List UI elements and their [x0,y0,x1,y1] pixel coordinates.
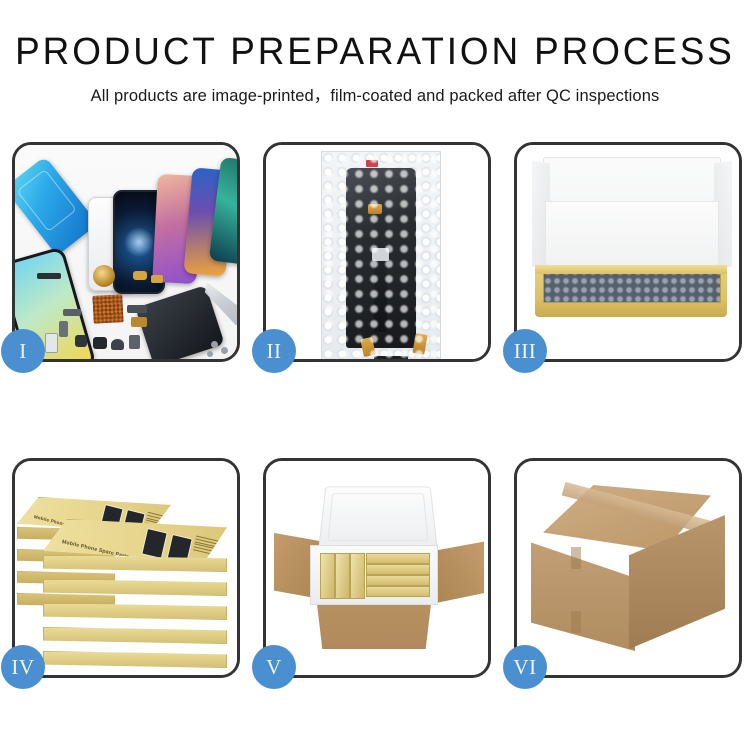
infographic-page: PRODUCT PREPARATION PROCESS All products… [0,0,750,750]
box-front-5 [43,651,227,668]
step-image-5 [266,461,488,675]
component-bracket [63,309,81,316]
screw-1 [211,341,218,348]
foam-sheet [545,201,719,273]
yellow-box-v-3 [350,553,365,599]
bubble-wrap-bag [321,151,441,359]
step-image-1 [15,145,237,359]
step-card-3[interactable]: III [514,142,742,362]
yellow-box-v-1 [320,553,335,599]
step-badge-6: VI [503,645,547,689]
step-badge-1: I [1,329,45,373]
box-spec-lines-front [192,536,219,558]
foam-lid [318,486,438,549]
component-chip [93,337,107,349]
step-image-6 [517,461,739,675]
component-button [111,339,124,350]
step-card-5[interactable]: V [263,458,491,678]
carton-seam-bottom [571,611,581,633]
step-badge-4: IV [1,645,45,689]
screw-2 [221,347,228,354]
page-subtitle: All products are image-printed，film-coat… [0,82,750,106]
step-badge-5: V [252,645,296,689]
screw-3 [207,351,213,357]
step-badge-3: III [503,329,547,373]
component-ribbon [127,305,147,313]
component-camera-module [75,335,87,347]
carton-seam-top [571,547,581,569]
box-front-3 [43,603,227,620]
component-flex-cable-1 [133,271,147,280]
step-badge-2: II [252,329,296,373]
header: PRODUCT PREPARATION PROCESS All products… [0,0,750,106]
yellow-box-v-2 [335,553,350,599]
step-image-2 [266,145,488,359]
step-card-2[interactable]: II [263,142,491,362]
component-vibrator [129,335,140,349]
component-sim-tray [45,333,58,353]
bubble-texture-overlay [322,152,440,359]
copper-coil [93,265,115,287]
component-speaker [37,273,61,279]
oca-film [15,156,98,256]
component-flex-cable-2 [151,275,163,283]
step-card-1[interactable]: I [12,142,240,362]
page-title: PRODUCT PREPARATION PROCESS [11,30,739,74]
step-image-3 [517,145,739,359]
carton-left-face [531,533,635,651]
component-gold-contact [131,317,147,327]
box-front-4 [43,627,227,644]
tray-rim [535,265,727,274]
copper-mesh [92,294,123,324]
box-front-2 [43,579,227,596]
box-phone-image-front-1 [141,528,168,559]
step-card-6[interactable]: VI [514,458,742,678]
step-card-4[interactable]: Mobile Phone Spare Parts Mobile Phone Sp… [12,458,240,678]
yellow-box-h-3 [366,575,430,586]
yellow-box-h-4 [366,586,430,597]
process-step-grid: I II [12,142,740,678]
yellow-box-h-1 [366,553,430,564]
step-image-4: Mobile Phone Spare Parts Mobile Phone Sp… [15,461,237,675]
yellow-box-h-2 [366,564,430,575]
component-connector [59,321,68,337]
